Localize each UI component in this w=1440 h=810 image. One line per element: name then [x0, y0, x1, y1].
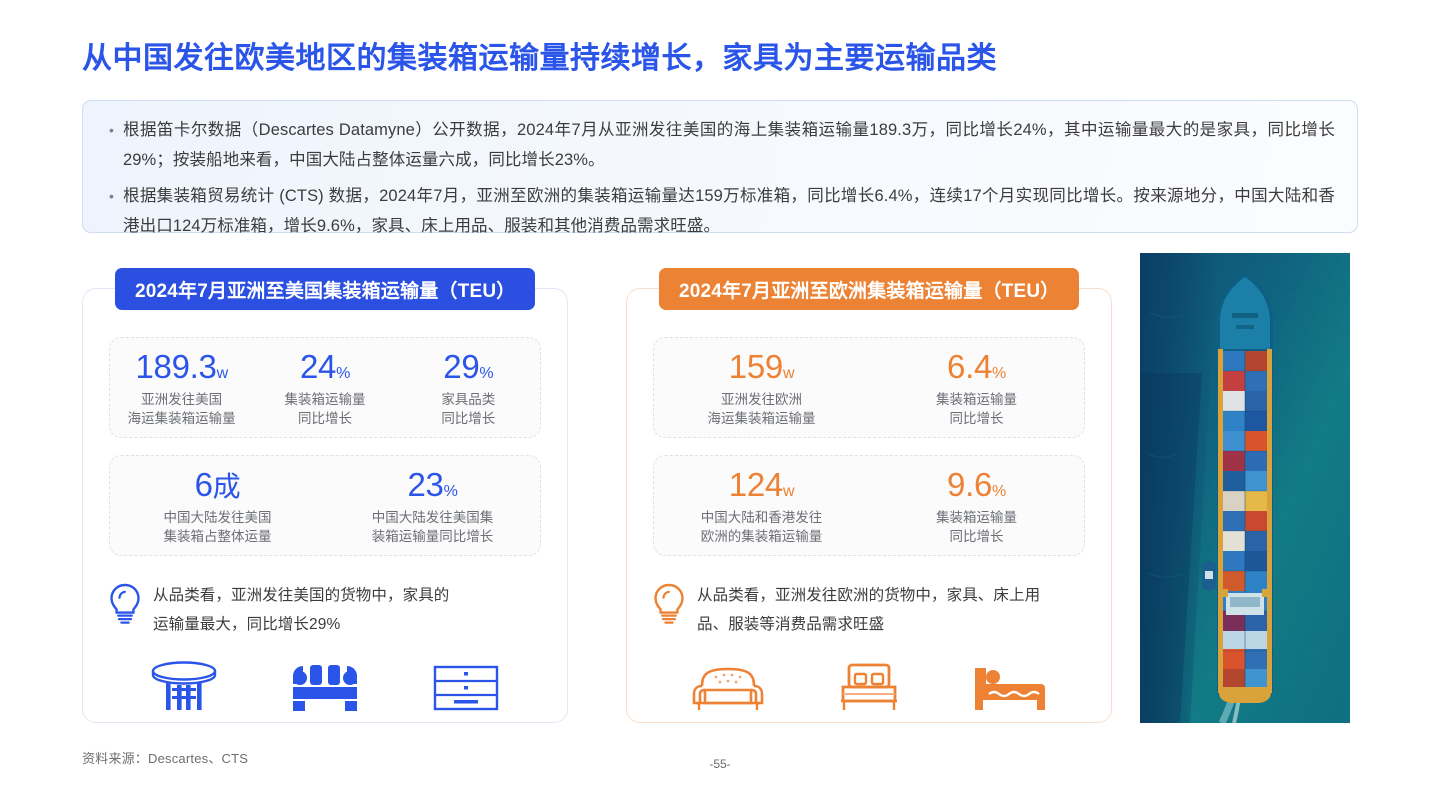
lightbulb-icon	[109, 581, 153, 632]
bullet-marker: •	[103, 181, 123, 241]
page-number: -55-	[0, 757, 1440, 771]
insight-note-asia-to-europe: 从品类看，亚洲发往欧洲的货物中，家具、床上用 品、服装等消费品需求旺盛	[653, 581, 1089, 639]
lightbulb-icon	[653, 581, 697, 632]
stat-value: 6.4%	[869, 350, 1084, 385]
stat-label: 集装箱运输量 同比增长	[253, 390, 396, 428]
stat-label: 家具品类 同比增长	[397, 390, 540, 428]
card-banner-asia-to-europe: 2024年7月亚洲至欧洲集装箱运输量（TEU）	[659, 268, 1079, 310]
bullet-item: • 根据笛卡尔数据（Descartes Datamyne）公开数据，2024年7…	[103, 115, 1335, 175]
insight-note-text: 从品类看，亚洲发往美国的货物中，家具的 运输量最大，同比增长29%	[153, 581, 449, 639]
stat-value: 159w	[654, 350, 869, 385]
bullet-marker: •	[103, 115, 123, 175]
bullet-text: 根据笛卡尔数据（Descartes Datamyne）公开数据，2024年7月从…	[123, 115, 1335, 175]
stat-label: 亚洲发往美国 海运集装箱运输量	[110, 390, 253, 428]
insight-note-asia-to-us: 从品类看，亚洲发往美国的货物中，家具的 运输量最大，同比增长29%	[109, 581, 545, 639]
stat-box-row-1: 189.3w 亚洲发往美国 海运集装箱运输量 24% 集装箱运输量 同比增长 2…	[109, 337, 541, 438]
stat-unit: %	[992, 483, 1006, 500]
bullet-item: • 根据集装箱贸易统计 (CTS) 数据，2024年7月，亚洲至欧洲的集装箱运输…	[103, 181, 1335, 241]
sofa-filled-icon	[279, 654, 371, 714]
double-bed-icon	[823, 654, 915, 714]
stat-value: 23%	[325, 468, 540, 503]
stat-item: 189.3w 亚洲发往美国 海运集装箱运输量	[110, 338, 253, 428]
stat-value: 6成	[110, 468, 325, 503]
card-asia-to-us: 2024年7月亚洲至美国集装箱运输量（TEU） 189.3w 亚洲发往美国 海运…	[82, 288, 568, 723]
card-banner-asia-to-us: 2024年7月亚洲至美国集装箱运输量（TEU）	[115, 268, 535, 310]
stat-item: 29% 家具品类 同比增长	[397, 338, 540, 428]
stat-unit: %	[336, 365, 350, 382]
stat-unit: w	[783, 483, 794, 500]
stat-item: 23% 中国大陆发往美国集 装箱运输量同比增长	[325, 456, 540, 546]
stat-item: 159w 亚洲发往欧洲 海运集装箱运输量	[654, 338, 869, 428]
furniture-icon-strip-orange	[657, 654, 1081, 714]
stat-unit: 成	[213, 471, 241, 502]
stat-box-row-2: 124w 中国大陆和香港发往 欧洲的集装箱运输量 9.6% 集装箱运输量 同比增…	[653, 455, 1085, 556]
stat-value: 9.6%	[869, 468, 1084, 503]
insight-note-text: 从品类看，亚洲发往欧洲的货物中，家具、床上用 品、服装等消费品需求旺盛	[697, 581, 1040, 639]
stat-item: 6成 中国大陆发往美国 集装箱占整体运量	[110, 456, 325, 546]
round-table-icon	[138, 654, 230, 714]
bullet-text: 根据集装箱贸易统计 (CTS) 数据，2024年7月，亚洲至欧洲的集装箱运输量达…	[123, 181, 1335, 241]
stat-unit: w	[217, 365, 228, 382]
armchair-outline-icon	[682, 654, 774, 714]
stat-unit: w	[783, 365, 794, 382]
stat-unit: %	[444, 483, 458, 500]
slide: 从中国发往欧美地区的集装箱运输量持续增长，家具为主要运输品类 • 根据笛卡尔数据…	[0, 0, 1440, 810]
stat-label: 亚洲发往欧洲 海运集装箱运输量	[654, 390, 869, 428]
stat-item: 124w 中国大陆和香港发往 欧洲的集装箱运输量	[654, 456, 869, 546]
stat-value: 24%	[253, 350, 396, 385]
stat-label: 中国大陆和香港发往 欧洲的集装箱运输量	[654, 508, 869, 546]
stat-label: 集装箱运输量 同比增长	[869, 390, 1084, 428]
stat-item: 9.6% 集装箱运输量 同比增长	[869, 456, 1084, 546]
stat-value: 29%	[397, 350, 540, 385]
card-asia-to-europe: 2024年7月亚洲至欧洲集装箱运输量（TEU） 159w 亚洲发往欧洲 海运集装…	[626, 288, 1112, 723]
stat-label: 中国大陆发往美国 集装箱占整体运量	[110, 508, 325, 546]
stat-unit: %	[992, 365, 1006, 382]
stat-box-row-2: 6成 中国大陆发往美国 集装箱占整体运量 23% 中国大陆发往美国集 装箱运输量…	[109, 455, 541, 556]
container-ship-photo	[1140, 253, 1350, 723]
bed-side-icon	[964, 654, 1056, 714]
stat-value: 189.3w	[110, 350, 253, 385]
page-title: 从中国发往欧美地区的集装箱运输量持续增长，家具为主要运输品类	[82, 33, 997, 77]
summary-panel: • 根据笛卡尔数据（Descartes Datamyne）公开数据，2024年7…	[82, 100, 1358, 233]
stat-box-row-1: 159w 亚洲发往欧洲 海运集装箱运输量 6.4% 集装箱运输量 同比增长	[653, 337, 1085, 438]
stat-unit: %	[479, 365, 493, 382]
stat-label: 中国大陆发往美国集 装箱运输量同比增长	[325, 508, 540, 546]
stat-item: 24% 集装箱运输量 同比增长	[253, 338, 396, 428]
stat-value: 124w	[654, 468, 869, 503]
dresser-icon	[420, 654, 512, 714]
furniture-icon-strip-blue	[113, 654, 537, 714]
stat-label: 集装箱运输量 同比增长	[869, 508, 1084, 546]
stat-item: 6.4% 集装箱运输量 同比增长	[869, 338, 1084, 428]
